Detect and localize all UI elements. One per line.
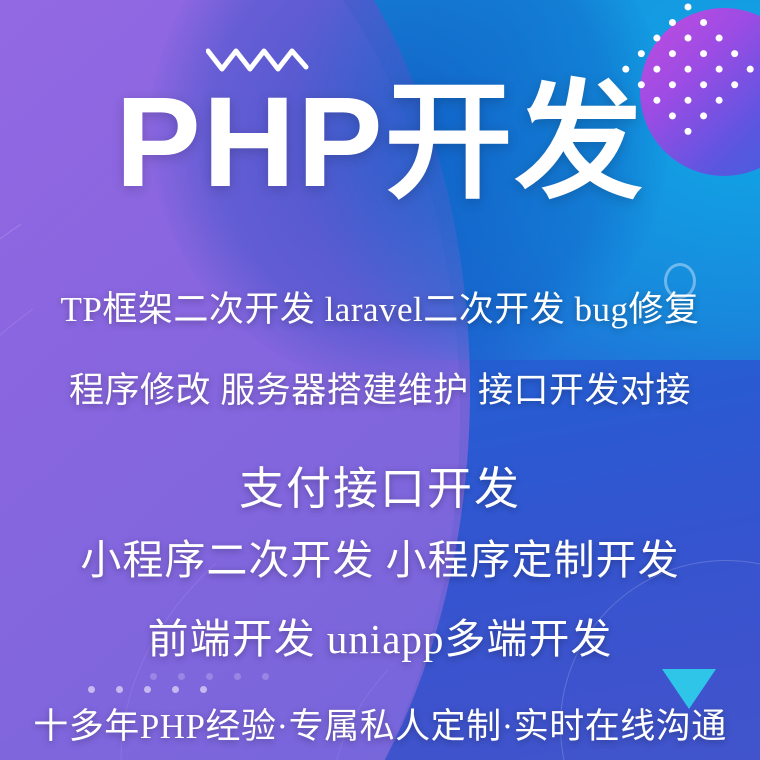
page-title: PHP开发 (0, 76, 760, 210)
service-line-4: 小程序二次开发 小程序定制开发 (0, 526, 760, 586)
php-development-promo-banner: PHP开发 TP框架二次开发 laravel二次开发 bug修复 程序修改 服务… (0, 0, 760, 760)
service-line-2: 程序修改 服务器搭建维护 接口开发对接 (0, 362, 760, 413)
footer-tagline: 十多年PHP经验·专属私人定制·实时在线沟通 (0, 698, 760, 749)
service-line-3: 支付接口开发 (0, 452, 760, 517)
banner-content: PHP开发 TP框架二次开发 laravel二次开发 bug修复 程序修改 服务… (0, 0, 760, 760)
service-line-5: 前端开发 uniapp多端开发 (0, 605, 760, 665)
service-line-1: TP框架二次开发 laravel二次开发 bug修复 (0, 281, 760, 332)
